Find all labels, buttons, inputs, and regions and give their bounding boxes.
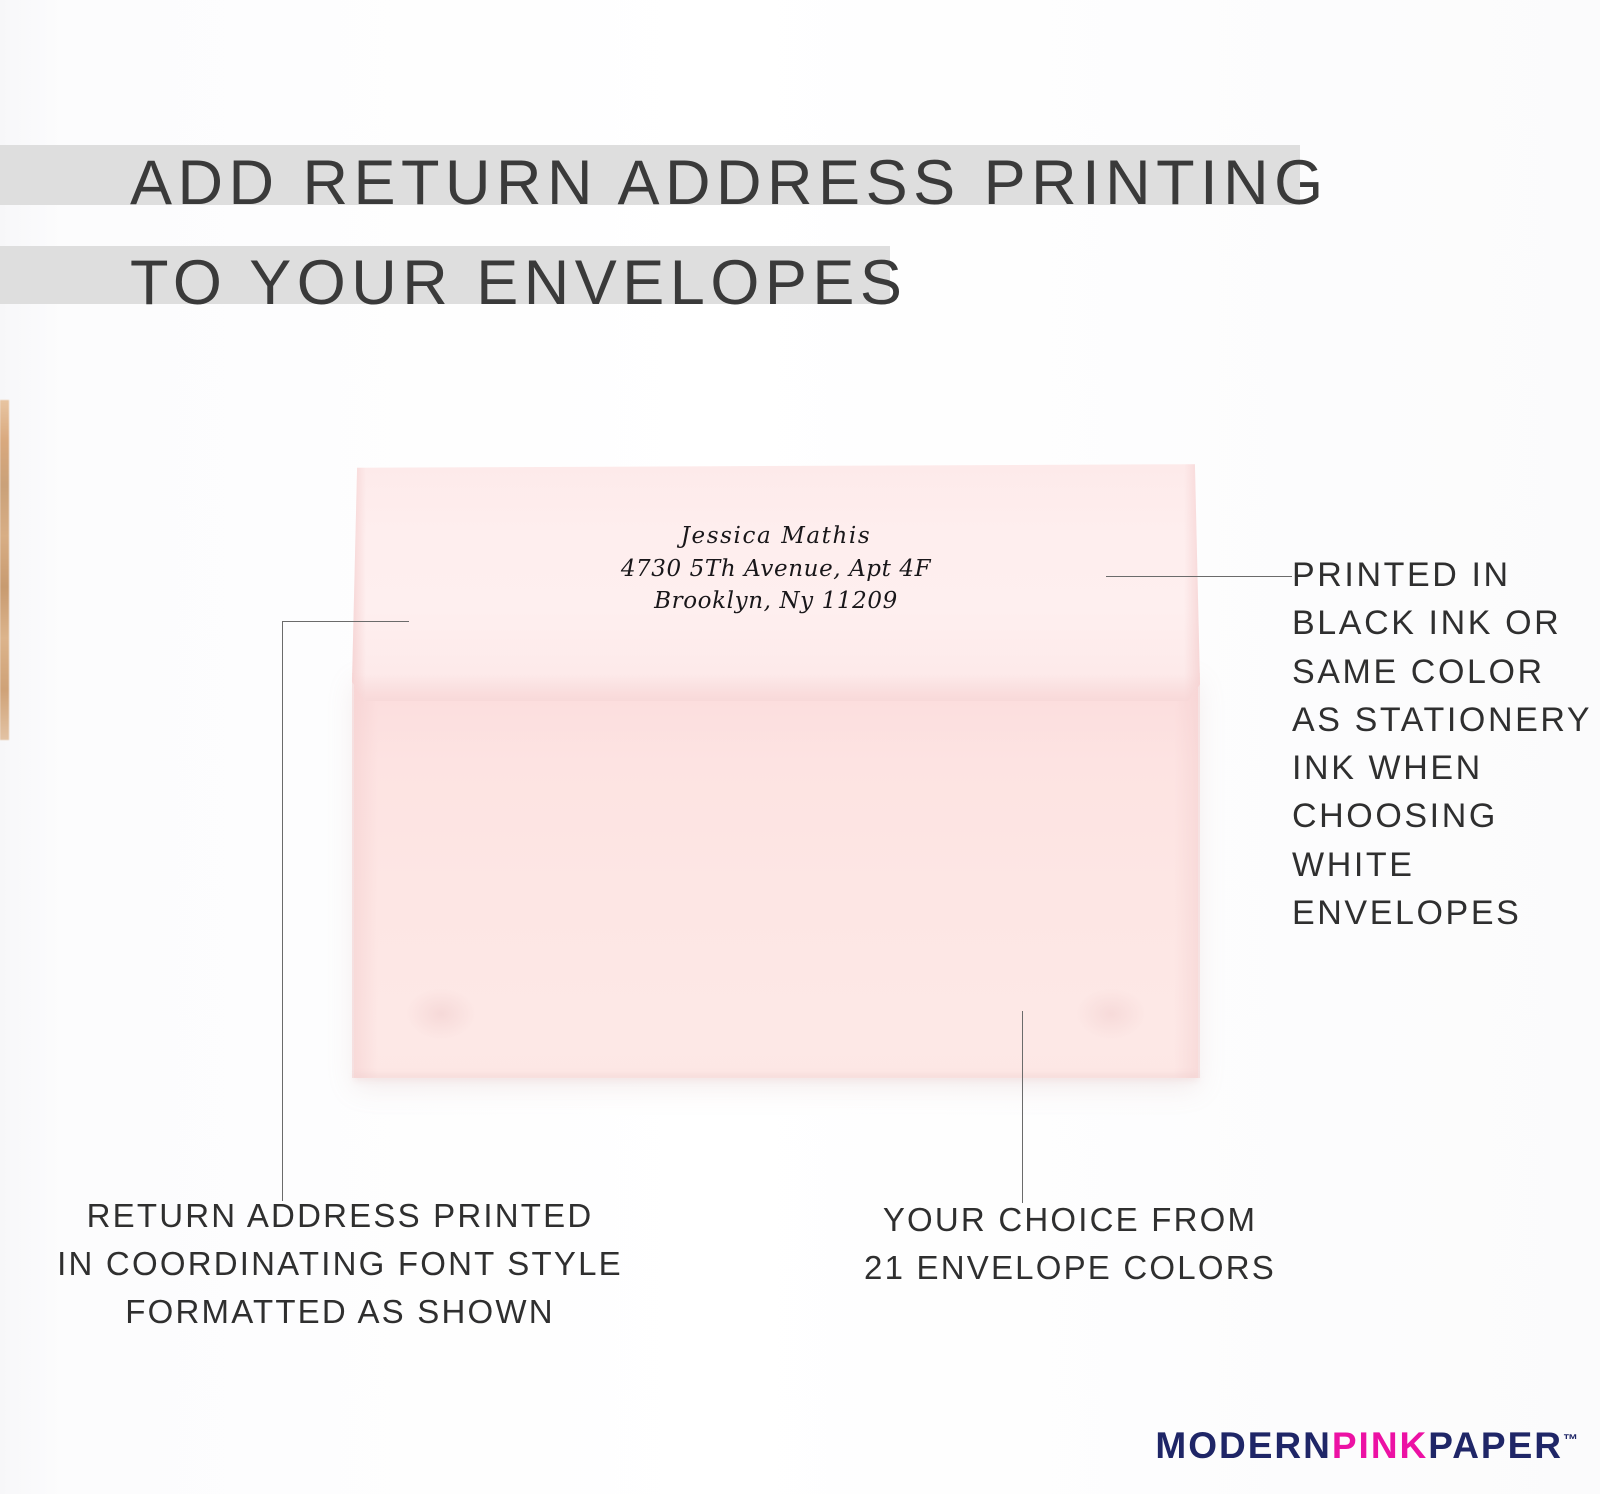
annotation-envelope-colors-line-2: 21 ENVELOPE COLORS [830,1244,1310,1292]
envelope-body [354,673,1198,1078]
annotation-printed-ink: PRINTED IN BLACK INK OR SAME COLOR AS ST… [1292,551,1592,937]
brand-logo-modern: MODERN [1155,1425,1331,1466]
headline-line-2-text: TO YOUR ENVELOPES [130,252,907,315]
envelope-emboss-left [406,988,476,1040]
annotation-printed-ink-text: PRINTED IN BLACK INK OR SAME COLOR AS ST… [1292,551,1592,937]
envelope-emboss-right [1076,988,1146,1040]
annotation-envelope-colors-line-1: YOUR CHOICE FROM [830,1196,1310,1244]
trademark-icon: ™ [1563,1432,1578,1449]
envelope-body-left-shade [352,673,378,1078]
annotation-return-address-font-line-2: IN COORDINATING FONT STYLE [0,1240,680,1288]
page-title: ADD RETURN ADDRESS PRINTING TO YOUR ENVE… [0,128,1400,320]
envelope-body-right-shade [1174,673,1200,1078]
return-address-name: Jessica Mathis [352,520,1200,553]
annotation-envelope-colors: YOUR CHOICE FROM 21 ENVELOPE COLORS [830,1196,1310,1292]
return-address-block: Jessica Mathis 4730 5Th Avenue, Apt 4F B… [352,520,1200,618]
annotation-return-address-font: RETURN ADDRESS PRINTED IN COORDINATING F… [0,1192,680,1336]
annotation-return-address-font-line-1: RETURN ADDRESS PRINTED [0,1192,680,1240]
envelope-photo: Jessica Mathis 4730 5Th Avenue, Apt 4F B… [352,463,1200,1078]
return-address-city-state-zip: Brooklyn, Ny 11209 [352,585,1200,618]
leader-line-left-horizontal [282,621,409,622]
brand-logo-pink: PINK [1332,1425,1428,1466]
return-address-street: 4730 5Th Avenue, Apt 4F [352,553,1200,586]
brand-logo: MODERNPINKPAPER™ [1155,1425,1578,1467]
leader-line-right-horizontal [1106,576,1292,577]
leader-line-left-vertical [282,621,283,1201]
brand-logo-paper: PAPER [1428,1425,1563,1466]
envelope-flap-bottom-shade [352,675,1200,701]
leader-line-center-vertical [1022,1011,1023,1203]
annotation-return-address-font-line-3: FORMATTED AS SHOWN [0,1288,680,1336]
headline-line-2: TO YOUR ENVELOPES [0,224,1400,320]
headline-line-1: ADD RETURN ADDRESS PRINTING [0,128,1400,224]
headline-line-1-text: ADD RETURN ADDRESS PRINTING [130,152,1329,215]
product-infographic: ADD RETURN ADDRESS PRINTING TO YOUR ENVE… [0,0,1600,1494]
wood-surface-sliver [0,400,9,740]
